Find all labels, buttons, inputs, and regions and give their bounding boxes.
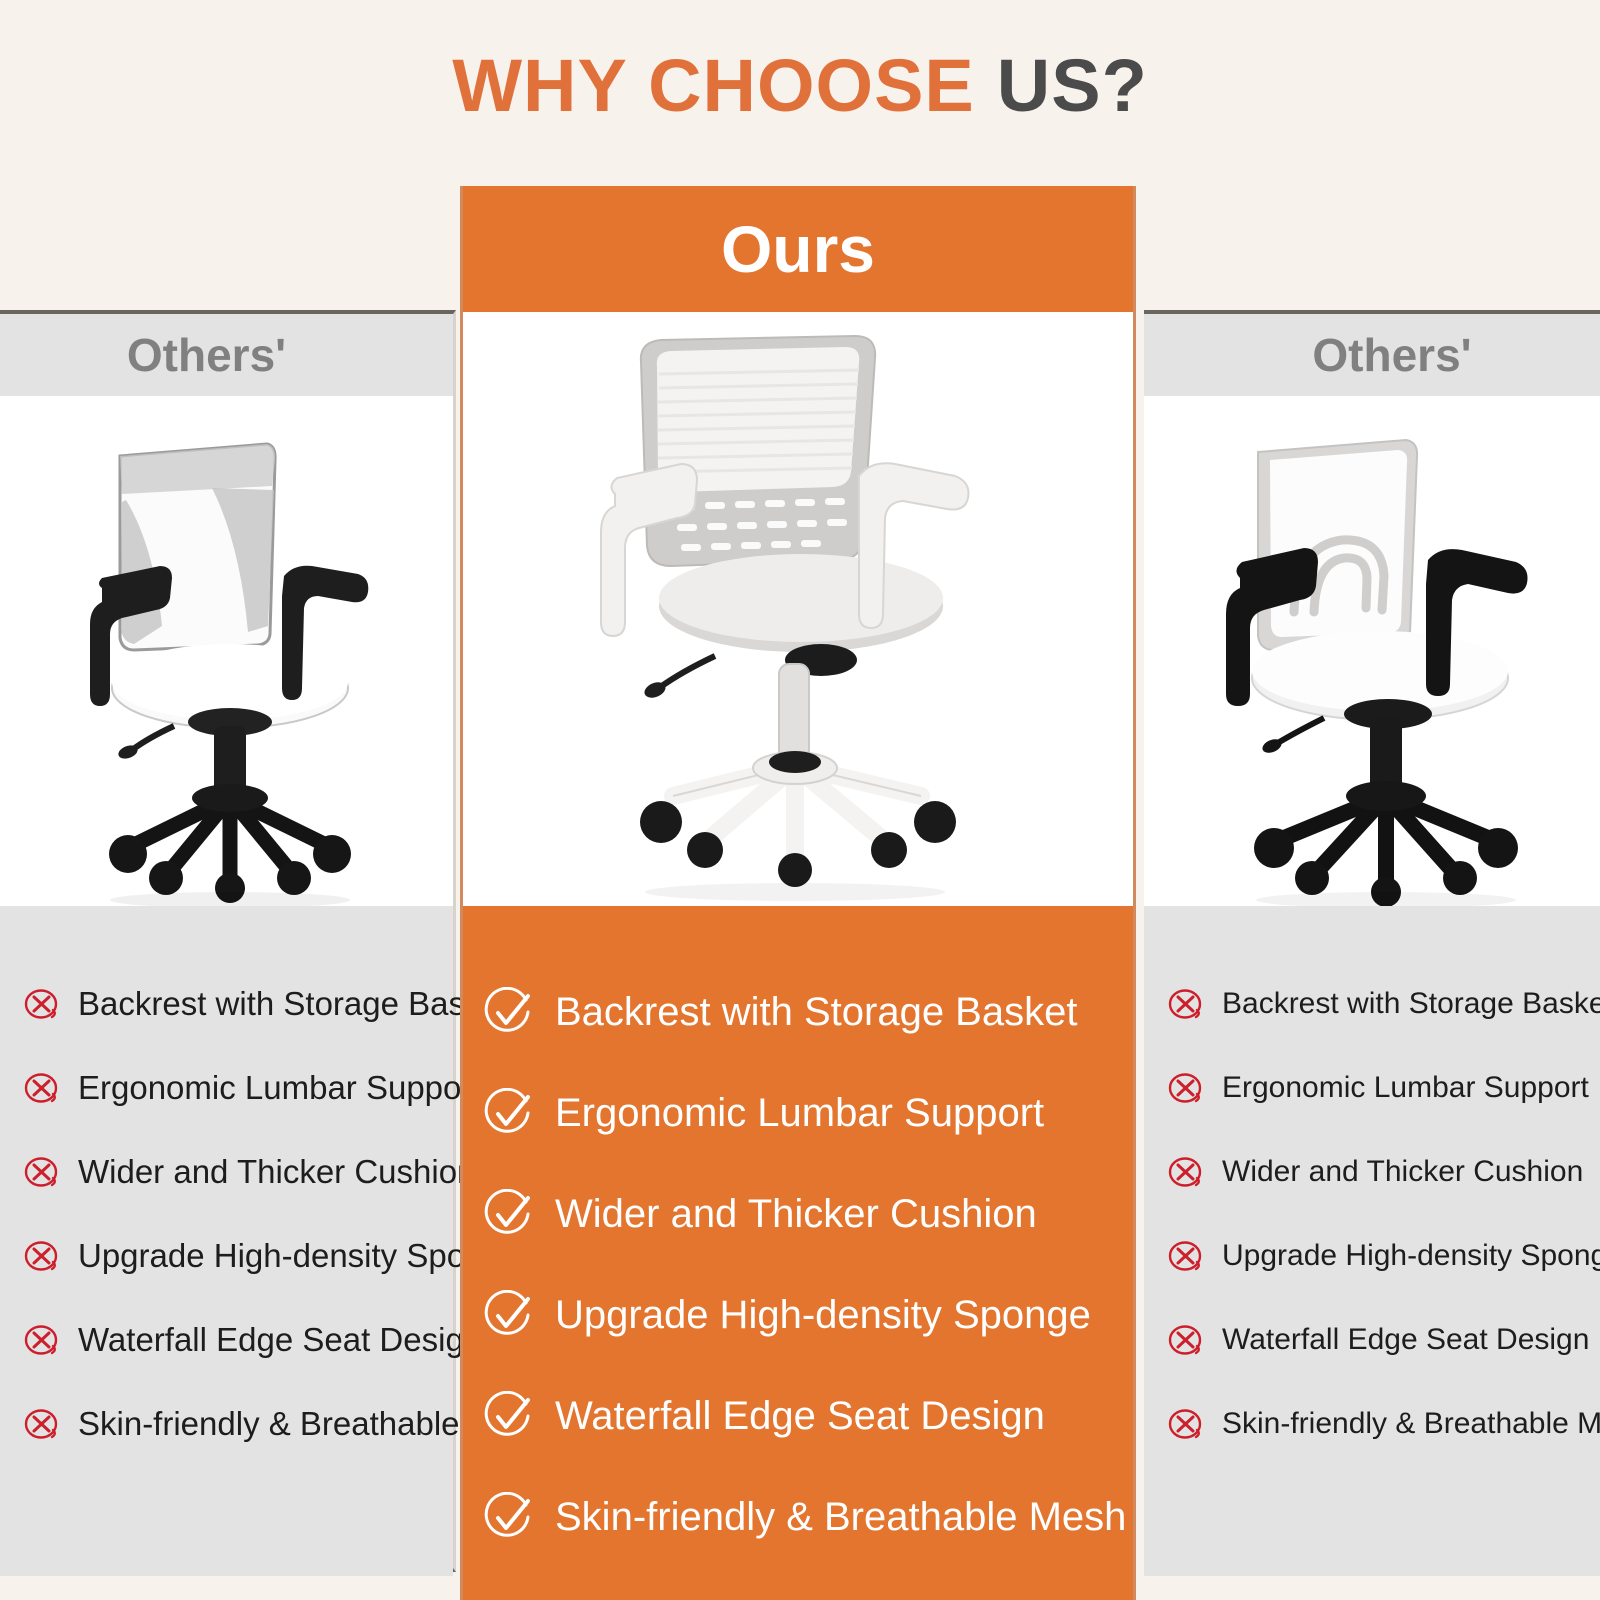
cross-circle-icon [22,1320,62,1360]
product-photo-ours [463,312,1133,906]
check-circle-icon [483,1189,535,1241]
feature-label: Ergonomic Lumbar Support [555,1091,1044,1136]
cross-circle-icon [22,1236,62,1276]
feature-label: Upgrade High-density Sponge [555,1293,1091,1338]
feature-list-others-right: Backrest with Storage Basket Ergonomic L… [1144,906,1600,1576]
feature-row: Upgrade High-density Sponge [463,1265,1133,1366]
feature-label: Upgrade High-density Sponge [78,1237,520,1275]
feature-row: Backrest with Storage Basket [1144,962,1600,1046]
feature-label: Upgrade High-density Sponge [1222,1239,1600,1273]
feature-list-others-left: Backrest with Storage Basket Ergonomic L… [0,906,453,1576]
cross-circle-icon [22,984,62,1024]
feature-row: Wider and Thicker Cushion [0,1130,453,1214]
feature-row: Skin-friendly & Breathable Mesh [0,1382,453,1466]
feature-label: Ergonomic Lumbar Support [1222,1071,1589,1105]
feature-row: Waterfall Edge Seat Design [463,1366,1133,1467]
feature-row: Skin-friendly & Breathable Mesh [1144,1382,1600,1466]
check-circle-icon [483,1088,535,1140]
feature-row: Waterfall Edge Seat Design [0,1298,453,1382]
feature-row: Wider and Thicker Cushion [463,1164,1133,1265]
product-photo-others-left [0,396,453,906]
check-circle-icon [483,1492,535,1544]
feature-list-ours: Backrest with Storage Basket Ergonomic L… [463,906,1133,1600]
cross-circle-icon [1166,1068,1206,1108]
cross-circle-icon [1166,1236,1206,1276]
office-chair-illustration [62,426,392,906]
feature-label: Waterfall Edge Seat Design [1222,1323,1589,1357]
check-circle-icon [483,987,535,1039]
feature-label: Skin-friendly & Breathable Mesh [555,1495,1126,1540]
feature-row: Upgrade High-density Sponge [0,1214,453,1298]
feature-label: Waterfall Edge Seat Design [555,1394,1045,1439]
column-header-ours: Ours [463,186,1133,312]
product-photo-others-right [1144,396,1600,906]
cross-circle-icon [22,1152,62,1192]
comparison-column-right-others: Others' [1144,310,1600,1572]
feature-row: Ergonomic Lumbar Support [0,1046,453,1130]
feature-label: Backrest with Storage Basket [78,985,509,1023]
cross-circle-icon [1166,1404,1206,1444]
cross-circle-icon [22,1404,62,1444]
feature-row: Backrest with Storage Basket [463,962,1133,1063]
check-circle-icon [483,1391,535,1443]
comparison-column-center-ours: Ours [460,186,1136,1600]
feature-row: Wider and Thicker Cushion [1144,1130,1600,1214]
column-header-others-left: Others' [0,314,453,396]
feature-row: Skin-friendly & Breathable Mesh [463,1467,1133,1568]
feature-label: Backrest with Storage Basket [1222,987,1600,1021]
feature-label: Waterfall Edge Seat Design [78,1321,482,1359]
feature-row: Ergonomic Lumbar Support [1144,1046,1600,1130]
feature-row: Upgrade High-density Sponge [1144,1214,1600,1298]
office-chair-illustration [563,326,1033,906]
cross-circle-icon [1166,1152,1206,1192]
office-chair-illustration [1192,426,1552,906]
feature-row: Backrest with Storage Basket [0,962,453,1046]
feature-label: Wider and Thicker Cushion [78,1153,475,1191]
page-title-highlight: WHY CHOOSE [452,43,975,128]
check-circle-icon [483,1290,535,1342]
feature-row: Waterfall Edge Seat Design [1144,1298,1600,1382]
cross-circle-icon [1166,1320,1206,1360]
feature-label: Skin-friendly & Breathable Mesh [1222,1407,1600,1441]
page-title-suffix: US? [997,43,1148,128]
feature-row: Ergonomic Lumbar Support [463,1063,1133,1164]
feature-label: Backrest with Storage Basket [555,990,1077,1035]
feature-label: Wider and Thicker Cushion [1222,1155,1583,1189]
page-title: WHY CHOOSE US? [0,0,1600,170]
cross-circle-icon [1166,984,1206,1024]
column-header-others-right: Others' [1144,314,1600,396]
feature-label: Ergonomic Lumbar Support [78,1069,482,1107]
comparison-column-left-others: Others' [0,310,456,1572]
feature-label: Wider and Thicker Cushion [555,1192,1037,1237]
cross-circle-icon [22,1068,62,1108]
